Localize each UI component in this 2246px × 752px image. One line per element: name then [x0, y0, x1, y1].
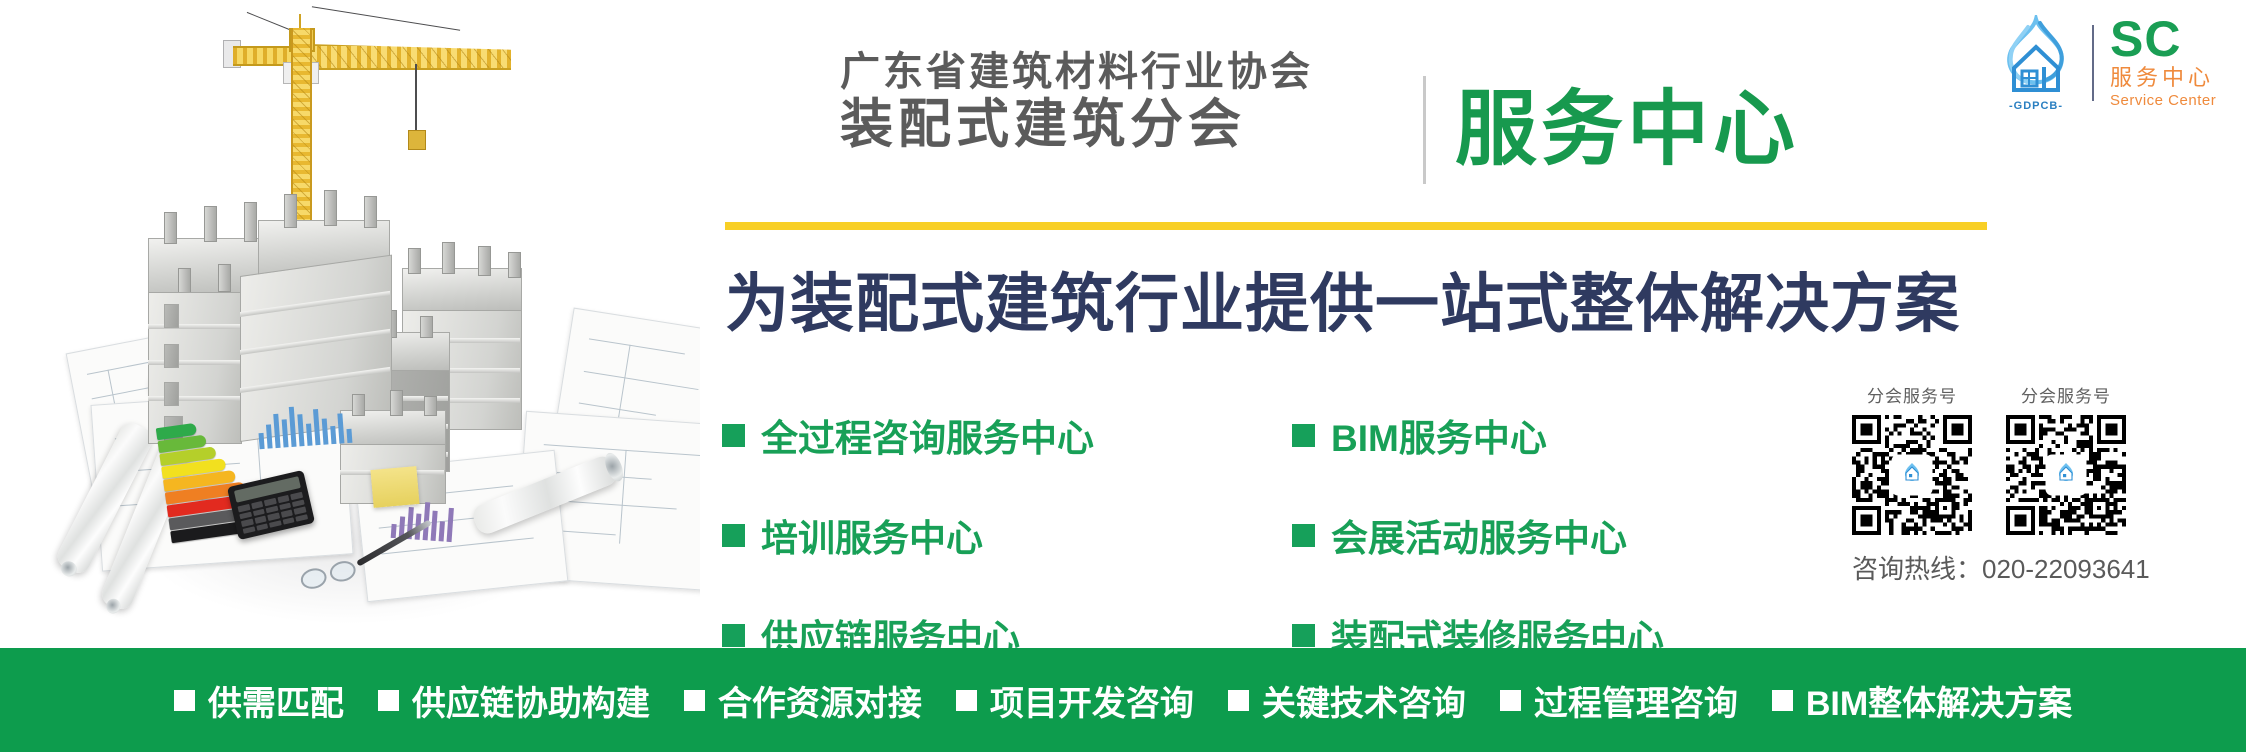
bullet-square-icon — [722, 424, 745, 447]
bottom-tag-5[interactable]: 过程管理咨询 — [1500, 676, 1738, 725]
rebar-column — [442, 242, 455, 274]
bottom-tag-label: 供应链协助构建 — [412, 676, 650, 725]
service-label: 全过程咨询服务中心 — [761, 408, 1094, 462]
qr-code-right[interactable] — [2006, 415, 2126, 535]
floor-edge — [148, 324, 240, 329]
qr-row: 分会服务号 分会服务号 — [1852, 382, 2162, 535]
banner-root: 广东省建筑材料行业协会 装配式建筑分会 服务中心 为装配式建筑行业提供一站式整体… — [0, 0, 2246, 752]
bar-chart-blue — [257, 399, 353, 449]
sc-lockup: SC 服务中心 Service Center — [2110, 16, 2224, 110]
bottom-tag-label: 关键技术咨询 — [1262, 676, 1466, 725]
qr-cell-right: 分会服务号 — [2006, 382, 2126, 535]
window-opening — [164, 304, 179, 328]
bullet-square-icon — [956, 690, 977, 711]
service-label: 会展活动服务中心 — [1331, 508, 1627, 562]
bullet-square-icon — [1500, 690, 1521, 711]
qr-code-left[interactable] — [1852, 415, 1972, 535]
rebar-column — [324, 190, 337, 226]
rebar-column — [478, 246, 491, 276]
bullet-square-icon — [378, 690, 399, 711]
rebar-column — [164, 212, 177, 244]
bullet-square-icon — [1772, 690, 1793, 711]
crane-jib — [307, 44, 511, 70]
bottom-tag-4[interactable]: 关键技术咨询 — [1228, 676, 1466, 725]
bullet-square-icon — [684, 690, 705, 711]
bottom-tag-0[interactable]: 供需匹配 — [174, 676, 344, 725]
brand-logo[interactable]: -GDPCB- SC 服务中心 Service Center — [1988, 14, 2224, 112]
gdpcb-emblem: -GDPCB- — [1988, 15, 2084, 111]
rebar-column — [424, 396, 437, 416]
hotline-text: 咨询热线：020-22093641 — [1852, 549, 2162, 586]
bottom-tag-3[interactable]: 项目开发咨询 — [956, 676, 1194, 725]
page-headline: 为装配式建筑行业提供一站式整体解决方案 — [725, 253, 1960, 345]
title-divider — [1423, 76, 1426, 184]
rebar-column — [508, 252, 521, 278]
qr-center-logo — [2047, 456, 2085, 494]
bullet-square-icon — [1292, 424, 1315, 447]
bottom-tag-label: BIM整体解决方案 — [1806, 676, 2072, 725]
gdpcb-emblem-small-icon — [2051, 460, 2081, 490]
flame-house-icon — [1988, 15, 2084, 103]
service-item-1[interactable]: BIM服务中心 — [1292, 408, 1822, 462]
logo-separator — [2092, 25, 2094, 101]
service-item-0[interactable]: 全过程咨询服务中心 — [722, 408, 1292, 462]
emblem-abbr: -GDPCB- — [1994, 100, 2078, 112]
gdpcb-emblem-small-icon — [1897, 460, 1927, 490]
qr-label-right: 分会服务号 — [2006, 382, 2126, 407]
service-item-2[interactable]: 培训服务中心 — [722, 508, 1292, 562]
bottom-tag-label: 项目开发咨询 — [990, 676, 1194, 725]
sc-abbr: SC — [2110, 16, 2224, 62]
bottom-tag-2[interactable]: 合作资源对接 — [684, 676, 922, 725]
service-label: BIM服务中心 — [1331, 408, 1547, 462]
roll-end — [58, 559, 79, 580]
window-opening — [164, 344, 179, 368]
floor-edge — [148, 396, 240, 401]
rebar-column — [284, 194, 297, 228]
yellow-divider-line — [725, 222, 1987, 230]
bottom-tag-1[interactable]: 供应链协助构建 — [378, 676, 650, 725]
crane-cable — [312, 6, 460, 30]
bullet-square-icon — [722, 524, 745, 547]
qr-block: 分会服务号 分会服务号 — [1852, 382, 2162, 586]
sticky-note — [370, 466, 419, 508]
bottom-tag-bar: 供需匹配 供应链协助构建 合作资源对接 项目开发咨询 关键技术咨询 过程管理咨询 — [0, 648, 2246, 752]
bullet-square-icon — [722, 624, 745, 647]
association-line1: 广东省建筑材料行业协会 — [840, 52, 1420, 93]
bottom-tag-list: 供需匹配 供应链协助构建 合作资源对接 项目开发咨询 关键技术咨询 过程管理咨询 — [174, 676, 2072, 725]
rebar-column — [218, 264, 231, 292]
rebar-column — [204, 206, 217, 242]
construction-photo — [0, 0, 700, 648]
bottom-tag-label: 过程管理咨询 — [1534, 676, 1738, 725]
sc-english: Service Center — [2110, 92, 2224, 110]
association-line2: 装配式建筑分会 — [840, 97, 1420, 152]
floor-edge — [148, 360, 240, 365]
qr-label-left: 分会服务号 — [1852, 382, 1972, 407]
qr-center-logo — [1893, 456, 1931, 494]
rebar-column — [364, 196, 377, 228]
window-opening — [164, 382, 179, 406]
roll-end — [104, 597, 123, 616]
sc-chinese: 服务中心 — [2110, 64, 2224, 92]
bullet-square-icon — [1292, 524, 1315, 547]
services-list: 全过程咨询服务中心 BIM服务中心 培训服务中心 会展活动服务中心 供应链服务中… — [722, 408, 1822, 662]
rebar-column — [244, 202, 257, 242]
qr-cell-left: 分会服务号 — [1852, 382, 1972, 535]
bullet-square-icon — [1292, 624, 1315, 647]
bottom-tag-6[interactable]: BIM整体解决方案 — [1772, 676, 2072, 725]
rebar-column — [420, 316, 433, 338]
bottom-tag-label: 合作资源对接 — [718, 676, 922, 725]
rebar-column — [390, 390, 403, 416]
service-label: 培训服务中心 — [761, 508, 983, 562]
roof-slab — [402, 268, 522, 314]
bullet-square-icon — [174, 690, 195, 711]
service-item-3[interactable]: 会展活动服务中心 — [1292, 508, 1822, 562]
association-name: 广东省建筑材料行业协会 装配式建筑分会 — [840, 52, 1420, 152]
bottom-tag-label: 供需匹配 — [208, 676, 344, 725]
service-center-title: 服务中心 — [1455, 62, 1799, 181]
crane-hook-line — [415, 64, 417, 132]
rebar-column — [352, 394, 365, 416]
crane-hook-block — [408, 130, 426, 150]
rebar-column — [408, 248, 421, 274]
eyeglasses — [299, 558, 358, 589]
bullet-square-icon — [1228, 690, 1249, 711]
